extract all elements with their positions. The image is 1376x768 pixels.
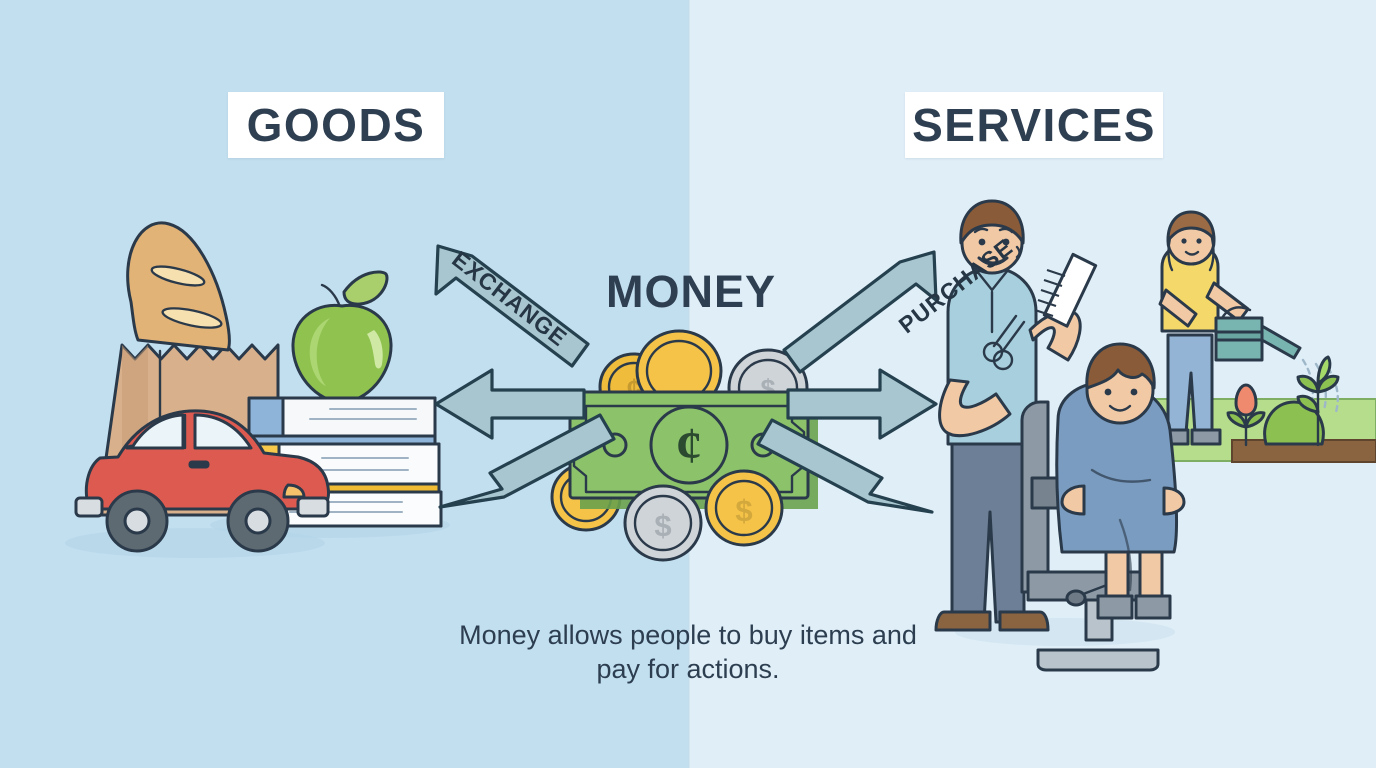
caption-text: Money allows people to buy items and pay… xyxy=(438,618,938,686)
svg-text:$: $ xyxy=(654,508,671,543)
book-blue xyxy=(249,398,435,444)
infographic-canvas: ¢ $ ¢ xyxy=(0,0,1376,768)
money-label: MONEY xyxy=(596,266,786,318)
services-illustration xyxy=(936,201,1376,670)
goods-title-chip: GOODS xyxy=(228,92,444,158)
watering-can-icon xyxy=(1216,307,1300,360)
services-title: SERVICES xyxy=(912,98,1156,152)
svg-text:$: $ xyxy=(735,493,752,528)
services-title-chip: SERVICES xyxy=(905,92,1163,158)
goods-title: GOODS xyxy=(247,98,426,152)
svg-text:¢: ¢ xyxy=(676,418,702,475)
baguette-bread-icon xyxy=(128,223,230,350)
arrow-left-horizontal xyxy=(436,370,584,438)
coin-gold-dollar-front: $ xyxy=(706,471,782,545)
goods-illustration xyxy=(65,223,450,558)
coin-silver-front: $ xyxy=(625,486,701,560)
green-apple-icon xyxy=(293,272,391,402)
